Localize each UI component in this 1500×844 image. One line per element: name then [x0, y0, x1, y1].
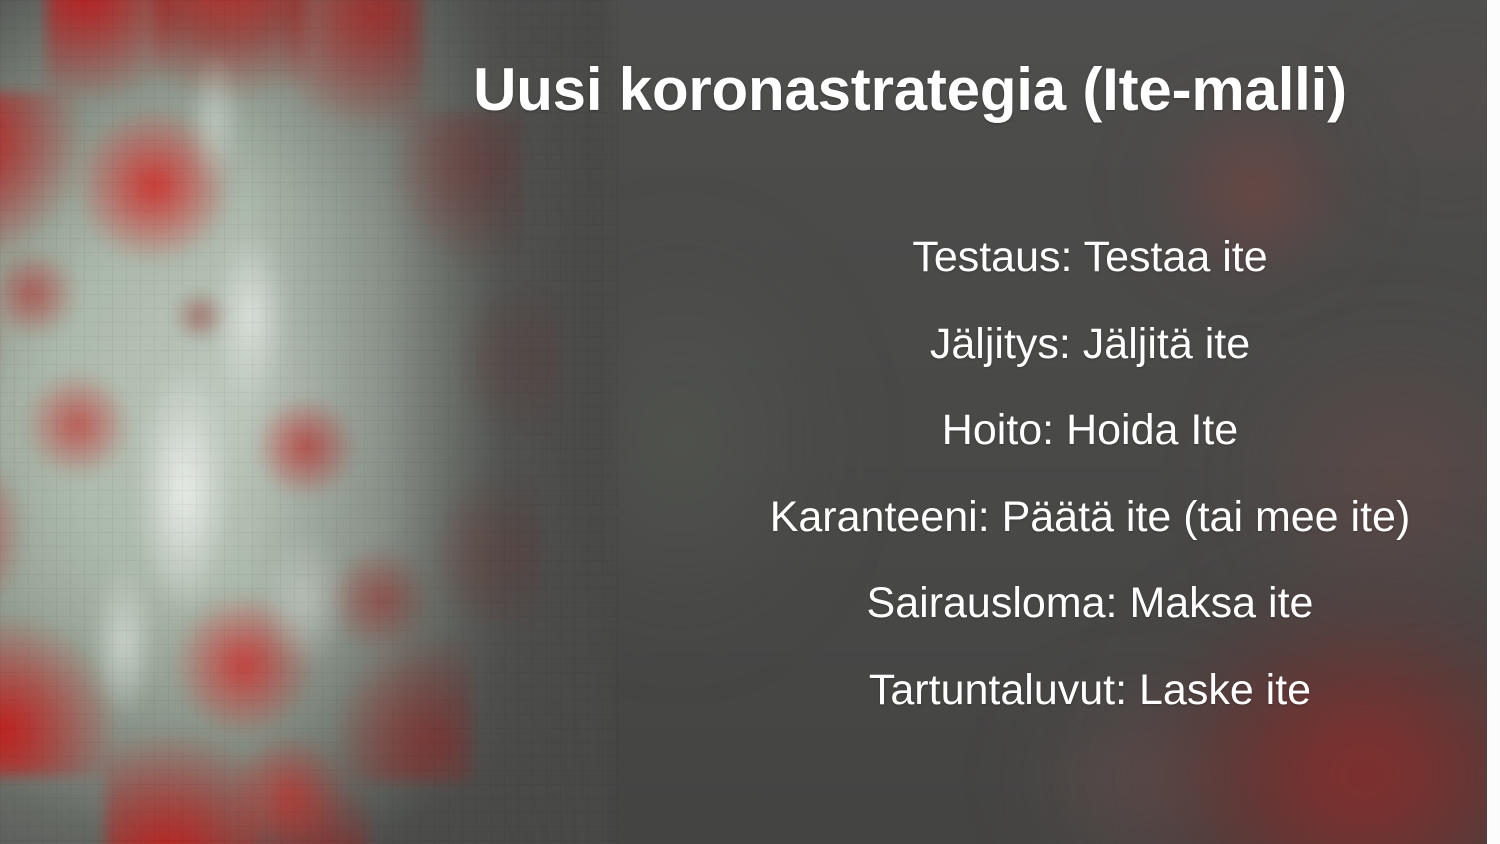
bullet-item-tartuntaluvut: Tartuntaluvut: Laske ite [640, 647, 1487, 734]
right-edge-strip [1487, 0, 1500, 844]
bullet-item-hoito: Hoito: Hoida Ite [640, 387, 1487, 474]
slide: Uusi koronastrategia (Ite-malli) Testaus… [0, 0, 1500, 844]
bullet-item-karanteeni: Karanteeni: Päätä ite (tai mee ite) [640, 474, 1487, 561]
slide-title: Uusi koronastrategia (Ite-malli) [360, 58, 1460, 121]
virus-edge-fade [0, 0, 610, 844]
bullet-item-testaus: Testaus: Testaa ite [640, 214, 1487, 301]
slide-stage: Uusi koronastrategia (Ite-malli) Testaus… [0, 0, 1487, 844]
bullet-item-sairausloma: Sairausloma: Maksa ite [640, 560, 1487, 647]
bullet-item-jaljitys: Jäljitys: Jäljitä ite [640, 301, 1487, 388]
coronavirus-photo [0, 0, 610, 844]
bullet-list: Testaus: Testaa ite Jäljitys: Jäljitä it… [640, 214, 1487, 733]
